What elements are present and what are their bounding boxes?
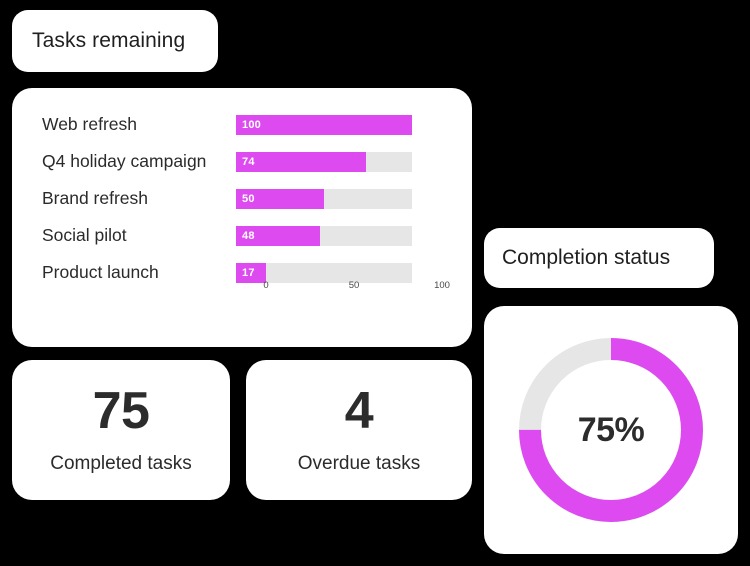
axis-tick-label: 100 <box>434 280 450 291</box>
bar-chart-x-axis: 0 50 100 <box>266 280 442 296</box>
bar-value-label: 100 <box>242 115 261 135</box>
bar-row[interactable]: Q4 holiday campaign 74 <box>12 143 472 180</box>
kpi-value: 75 <box>93 385 150 437</box>
completion-status-title-pill: Completion status <box>484 228 714 288</box>
bar-track: 50 <box>236 189 412 209</box>
completion-status-chart-card: 75% <box>484 306 738 554</box>
axis-tick-label: 0 <box>263 280 268 291</box>
bar-category-label: Social pilot <box>12 225 236 246</box>
bar-category-label: Brand refresh <box>12 188 236 209</box>
bar-value-label: 74 <box>242 152 255 172</box>
bar-fill <box>236 115 412 135</box>
kpi-label: Overdue tasks <box>298 453 421 475</box>
bar-track: 74 <box>236 152 412 172</box>
bar-row[interactable]: Social pilot 48 <box>12 217 472 254</box>
bar-row[interactable]: Brand refresh 50 <box>12 180 472 217</box>
bar-track: 48 <box>236 226 412 246</box>
bar-value-label: 48 <box>242 226 255 246</box>
tasks-remaining-title: Tasks remaining <box>32 29 185 53</box>
axis-tick-label: 50 <box>349 280 360 291</box>
bar-category-label: Q4 holiday campaign <box>12 151 236 172</box>
bar-category-label: Product launch <box>12 262 236 283</box>
kpi-value: 4 <box>345 385 373 437</box>
kpi-label: Completed tasks <box>50 453 192 475</box>
bar-category-label: Web refresh <box>12 114 236 135</box>
kpi-card-overdue-tasks: 4 Overdue tasks <box>246 360 472 500</box>
donut-chart: 75% <box>513 332 709 528</box>
kpi-card-completed-tasks: 75 Completed tasks <box>12 360 230 500</box>
bar-chart-rows: Web refresh 100 Q4 holiday campaign 74 B… <box>12 106 472 291</box>
donut-center-value: 75% <box>513 332 709 528</box>
bar-value-label: 50 <box>242 189 255 209</box>
tasks-remaining-title-pill: Tasks remaining <box>12 10 218 72</box>
bar-track: 100 <box>236 115 412 135</box>
tasks-remaining-chart-card: Web refresh 100 Q4 holiday campaign 74 B… <box>12 88 472 347</box>
bar-value-label: 17 <box>242 263 255 283</box>
bar-fill <box>236 152 366 172</box>
bar-row[interactable]: Web refresh 100 <box>12 106 472 143</box>
completion-status-title: Completion status <box>502 246 670 270</box>
